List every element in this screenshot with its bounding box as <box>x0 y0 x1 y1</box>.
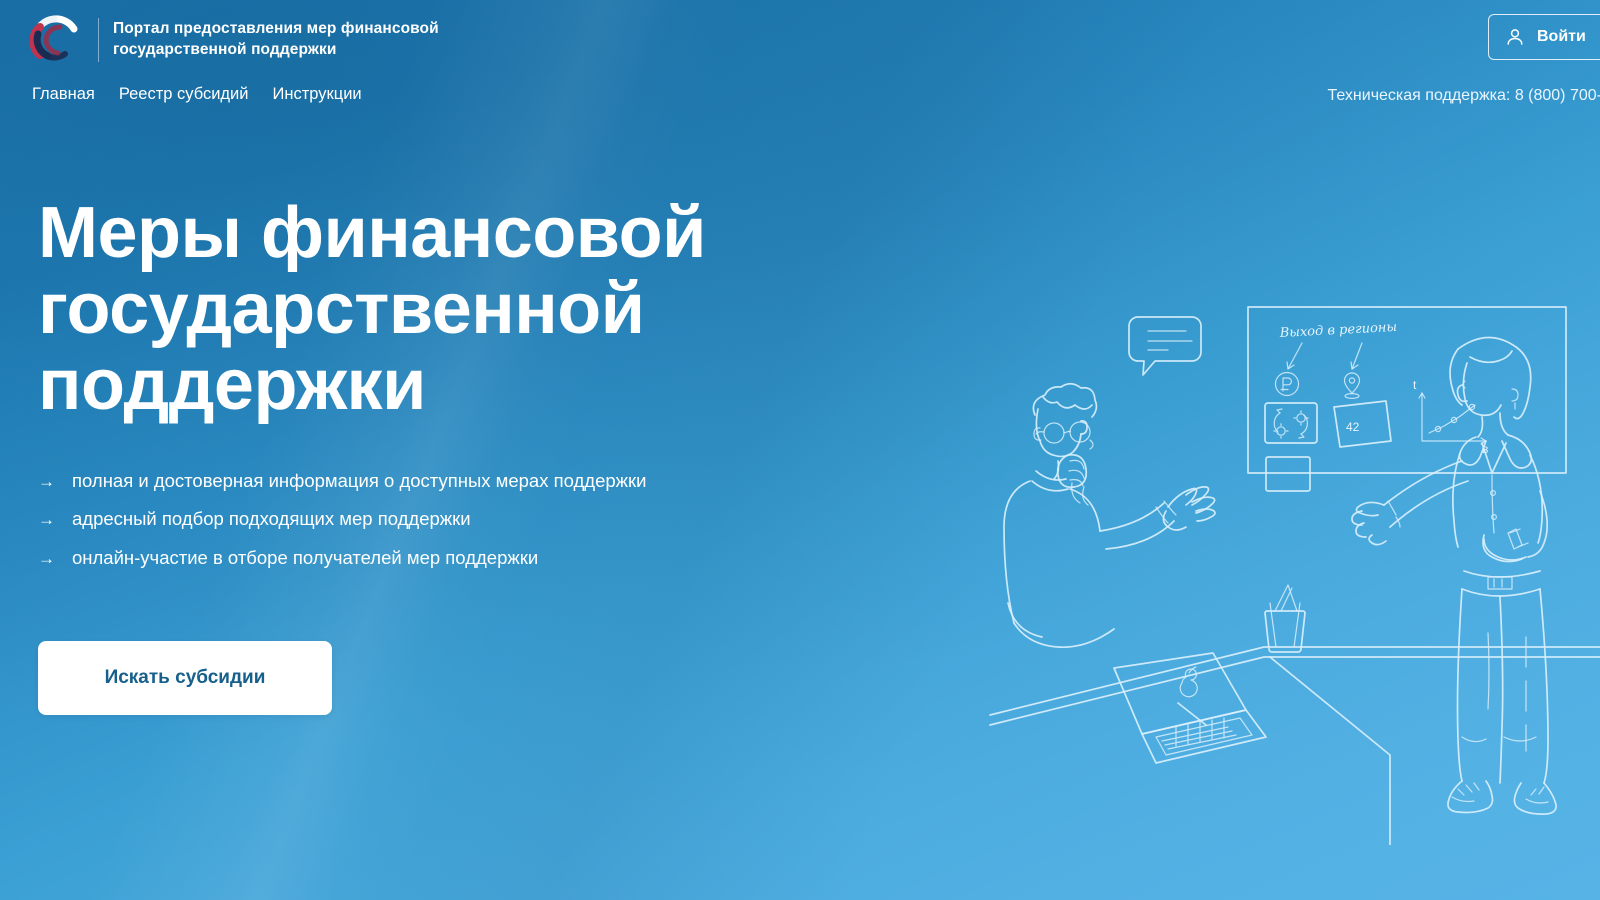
list-item-label: адресный подбор подходящих мер поддержки <box>72 510 471 529</box>
speech-bubble-icon <box>1129 317 1201 375</box>
hero-content: Меры финансовой государственной поддержк… <box>38 196 938 715</box>
brand-block[interactable]: Портал предоставления мер финансовой гос… <box>30 14 439 66</box>
arrow-right-icon: → <box>38 511 56 528</box>
standing-woman-presenter <box>1352 337 1556 814</box>
desk-icon <box>990 647 1600 845</box>
list-item-label: онлайн-участие в отборе получателей мер … <box>72 549 538 568</box>
svg-text:t: t <box>1413 378 1417 392</box>
team-presentation-line-art: Выход в регионы <box>970 285 1600 845</box>
nav-item-home[interactable]: Главная <box>32 86 95 103</box>
site-header: Портал предоставления мер финансовой гос… <box>0 0 1600 128</box>
brand-divider <box>98 18 99 62</box>
seated-man-with-glasses <box>1004 384 1215 647</box>
whiteboard-icon: Выход в регионы <box>1248 307 1566 491</box>
sticky-note-icon: 42 <box>1334 401 1391 447</box>
russia-arc-logo-icon <box>30 14 82 66</box>
arrow-right-icon: → <box>38 473 56 490</box>
login-button[interactable]: Войти <box>1488 14 1600 60</box>
whiteboard-title: Выход в регионы <box>1278 320 1397 341</box>
nav-item-instructions[interactable]: Инструкции <box>273 86 362 103</box>
main-nav: Главная Реестр субсидий Инструкции <box>32 86 362 103</box>
brand-title: Портал предоставления мер финансовой гос… <box>113 19 439 60</box>
list-item-label: полная и достоверная информация о доступ… <box>72 472 647 491</box>
pencil-cup-icon <box>1265 585 1305 652</box>
page-title: Меры финансовой государственной поддержк… <box>38 196 938 424</box>
line-chart-icon: t в <box>1413 378 1488 456</box>
hero-illustration: Выход в регионы <box>970 285 1600 845</box>
list-item: → онлайн-участие в отборе получателей ме… <box>38 549 938 568</box>
laptop-icon <box>1114 653 1266 763</box>
svg-text:в: в <box>1482 442 1488 456</box>
list-item: → полная и достоверная информация о дост… <box>38 472 938 491</box>
support-phone[interactable]: Техническая поддержка: 8 (800) 700-27-3 <box>1328 88 1600 104</box>
gears-icon <box>1265 403 1317 443</box>
user-icon <box>1505 27 1525 47</box>
hero-page: Портал предоставления мер финансовой гос… <box>0 0 1600 900</box>
empty-frame-icon <box>1266 457 1310 491</box>
arrow-right-icon: → <box>38 550 56 567</box>
hero-benefits-list: → полная и достоверная информация о дост… <box>38 472 938 568</box>
ruble-icon <box>1276 373 1299 396</box>
sticky-note-value: 42 <box>1346 420 1360 434</box>
search-subsidies-button[interactable]: Искать субсидии <box>38 641 332 715</box>
map-pin-icon <box>1345 373 1360 398</box>
nav-item-registry[interactable]: Реестр субсидий <box>119 86 249 103</box>
list-item: → адресный подбор подходящих мер поддерж… <box>38 510 938 529</box>
login-button-label: Войти <box>1537 28 1586 46</box>
